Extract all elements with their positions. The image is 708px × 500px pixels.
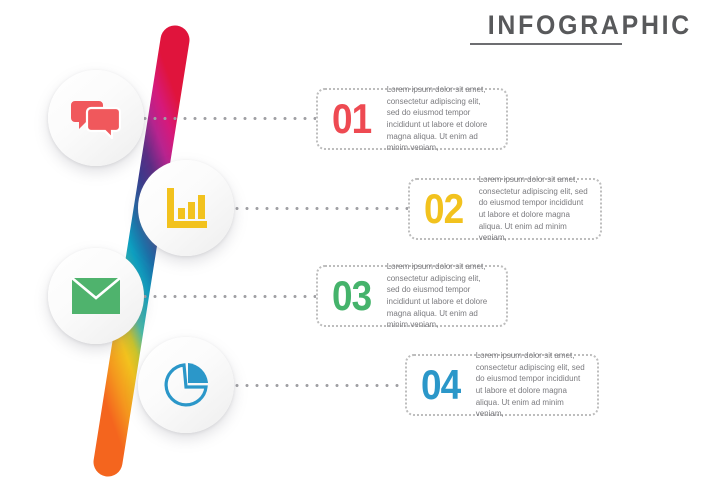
info-box-3[interactable]: 03 Lorem ipsum dolor sit amet, consectet…	[316, 265, 508, 327]
info-box-4[interactable]: 04 Lorem ipsum dolor sit amet, consectet…	[405, 354, 599, 416]
bar-chart-icon	[160, 182, 212, 234]
infographic-canvas: 01 Lorem ipsum dolor sit amet, consectet…	[0, 0, 708, 500]
info-box-text: Lorem ipsum dolor sit amet, consectetur …	[479, 174, 588, 244]
pie-chart-icon	[160, 359, 212, 411]
node-circle-1[interactable]	[48, 70, 144, 166]
connector-line-3	[140, 295, 320, 298]
info-box-number: 01	[332, 98, 371, 140]
info-box-text: Lorem ipsum dolor sit amet, consectetur …	[476, 350, 585, 420]
info-box-1[interactable]: 01 Lorem ipsum dolor sit amet, consectet…	[316, 88, 508, 150]
info-box-number: 04	[421, 364, 460, 406]
connector-line-4	[232, 384, 407, 387]
title-underline	[470, 43, 622, 45]
speech-bubbles-icon	[70, 92, 122, 144]
node-circle-4[interactable]	[138, 337, 234, 433]
info-box-number: 03	[332, 275, 371, 317]
connector-line-2	[232, 207, 410, 210]
info-box-text: Lorem ipsum dolor sit amet, consectetur …	[387, 84, 494, 154]
info-box-number: 02	[424, 188, 463, 230]
node-circle-2[interactable]	[138, 160, 234, 256]
node-circle-3[interactable]	[48, 248, 144, 344]
page-title: INFOGRAPHIC	[470, 12, 692, 45]
connector-line-1	[140, 117, 320, 120]
info-box-2[interactable]: 02 Lorem ipsum dolor sit amet, consectet…	[408, 178, 602, 240]
page-title-text: INFOGRAPHIC	[488, 12, 692, 39]
envelope-icon	[70, 270, 122, 322]
info-box-text: Lorem ipsum dolor sit amet, consectetur …	[387, 261, 494, 331]
